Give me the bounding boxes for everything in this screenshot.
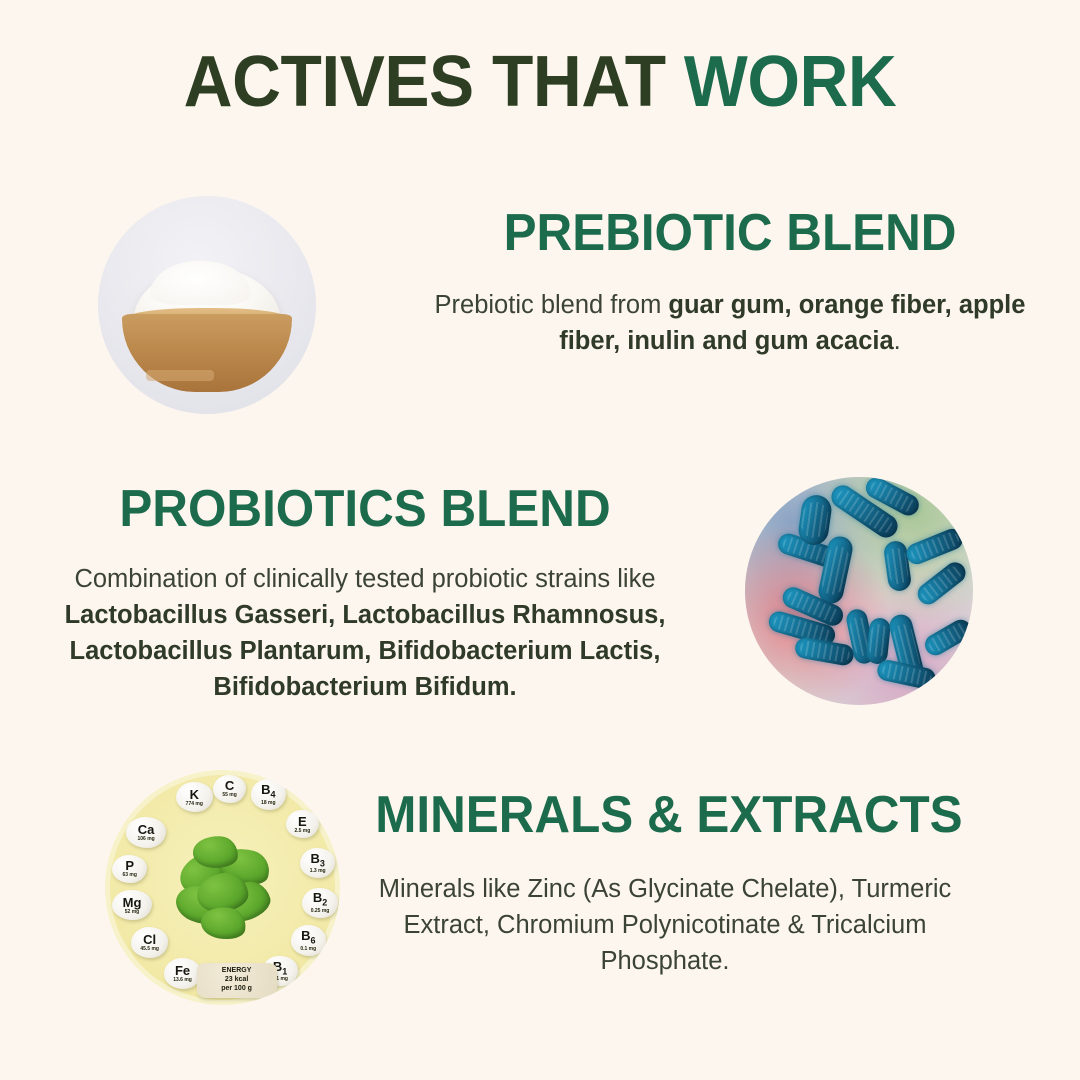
- minerals-body: Minerals like Zinc (As Glycinate Chelate…: [360, 871, 970, 980]
- wheel-scene: K 774 mg C 55 mg B4 18 mg E 2.5 mg B3 1.…: [105, 770, 340, 1005]
- spinach-leaves-icon: [176, 836, 275, 944]
- probiotics-heading: PROBIOTICS BLEND: [35, 482, 694, 537]
- nutrient-symbol: B2: [313, 891, 327, 908]
- powder-bowl-image: [98, 196, 316, 414]
- bacteria-rod-icon: [913, 558, 969, 608]
- bowl-grain-band: [146, 370, 214, 381]
- probiotics-section-text: PROBIOTICS BLEND Combination of clinical…: [18, 482, 712, 705]
- poster-root: ACTIVES THAT WORK PREBIOTIC BLEND Prebio…: [0, 0, 1080, 1080]
- nutrient-amount: 18 mg: [261, 801, 275, 806]
- nutrient-amount: 13.6 mg: [173, 978, 192, 983]
- nutrient-wheel-image: K 774 mg C 55 mg B4 18 mg E 2.5 mg B3 1.…: [105, 770, 340, 1005]
- nutrient-symbol: Cl: [143, 933, 156, 946]
- nutrient-pill: Ca 106 mg: [126, 817, 166, 848]
- bacteria-scene: [745, 477, 973, 705]
- nutrient-symbol: Fe: [175, 964, 190, 977]
- nutrient-pill: C 55 mg: [213, 775, 246, 803]
- nutrient-amount: 774 mg: [186, 802, 203, 807]
- minerals-body-lead: Minerals like Zinc (As Glycinate Chelate…: [379, 875, 952, 975]
- nutrient-pill: K 774 mg: [176, 782, 214, 813]
- page-title-part-a: ACTIVES THAT: [184, 42, 684, 122]
- nutrient-pill: E 2.5 mg: [286, 810, 319, 838]
- nutrient-symbol: B6: [301, 929, 315, 946]
- nutrient-symbol: B3: [310, 852, 324, 869]
- nutrient-amount: 52 mg: [125, 910, 139, 915]
- nutrient-symbol: C: [225, 779, 234, 792]
- bacteria-rod-icon: [921, 616, 973, 659]
- nutrient-amount: 45.5 mg: [140, 947, 159, 952]
- nutrient-symbol: Ca: [138, 823, 155, 836]
- minerals-section-text: MINERALS & EXTRACTS Minerals like Zinc (…: [360, 788, 970, 979]
- nutrient-symbol: K: [190, 788, 199, 801]
- nutrient-symbol: E: [298, 815, 307, 828]
- bacteria-image: [745, 477, 973, 705]
- bacteria-rod-icon: [796, 493, 832, 547]
- nutrient-symbol: B4: [261, 783, 275, 800]
- nutrient-pill: Cl 45.5 mg: [131, 927, 169, 958]
- bacteria-rod-icon: [903, 526, 966, 567]
- nutrient-amount: 55 mg: [222, 793, 236, 798]
- energy-label: ENERGY: [222, 967, 252, 976]
- prebiotic-body: Prebiotic blend from guar gum, orange fi…: [410, 287, 1050, 359]
- prebiotic-heading: PREBIOTIC BLEND: [426, 206, 1034, 261]
- energy-tag: ENERGY 23 kcal per 100 g: [197, 963, 277, 998]
- nutrient-pill: P 63 mg: [112, 855, 147, 883]
- nutrient-pill: Fe 13.6 mg: [164, 958, 202, 989]
- nutrient-symbol: Mg: [123, 896, 142, 909]
- nutrient-amount: 1.3 mg: [310, 869, 326, 874]
- powder-heap-highlight: [150, 261, 250, 305]
- prebiotic-section-text: PREBIOTIC BLEND Prebiotic blend from gua…: [410, 206, 1050, 359]
- probiotics-body: Combination of clinically tested probiot…: [18, 561, 712, 706]
- nutrient-pill: B2 0.25 mg: [302, 888, 337, 919]
- probiotics-body-lead: Combination of clinically tested probiot…: [74, 565, 655, 593]
- minerals-heading: MINERALS & EXTRACTS: [375, 788, 955, 843]
- nutrient-amount: 0.25 mg: [311, 909, 330, 914]
- energy-value: 23 kcal: [225, 976, 248, 985]
- nutrient-pill: B6 0.1 mg: [291, 925, 326, 956]
- energy-unit: per 100 g: [221, 985, 252, 994]
- nutrient-symbol: P: [125, 859, 134, 872]
- bacteria-rod-icon: [794, 636, 856, 666]
- bacteria-rod-icon: [876, 658, 938, 690]
- nutrient-amount: 106 mg: [137, 837, 154, 842]
- nutrient-amount: 63 mg: [122, 873, 136, 878]
- page-title-part-b: WORK: [684, 42, 896, 122]
- bacteria-rod-icon: [866, 617, 891, 664]
- nutrient-amount: 0.1 mg: [300, 947, 316, 952]
- probiotics-body-bold: Lactobacillus Gasseri, Lactobacillus Rha…: [65, 601, 666, 701]
- prebiotic-body-lead: Prebiotic blend from: [435, 291, 669, 319]
- prebiotic-body-tail: .: [894, 327, 901, 355]
- nutrient-pill: B4 18 mg: [251, 779, 286, 810]
- powder-scene: [98, 196, 316, 414]
- nutrient-amount: 2.5 mg: [294, 829, 310, 834]
- bowl-body: [122, 314, 292, 392]
- page-title: ACTIVES THAT WORK: [32, 46, 1047, 118]
- nutrient-pill: B3 1.3 mg: [300, 848, 335, 879]
- nutrient-pill: Mg 52 mg: [112, 890, 152, 921]
